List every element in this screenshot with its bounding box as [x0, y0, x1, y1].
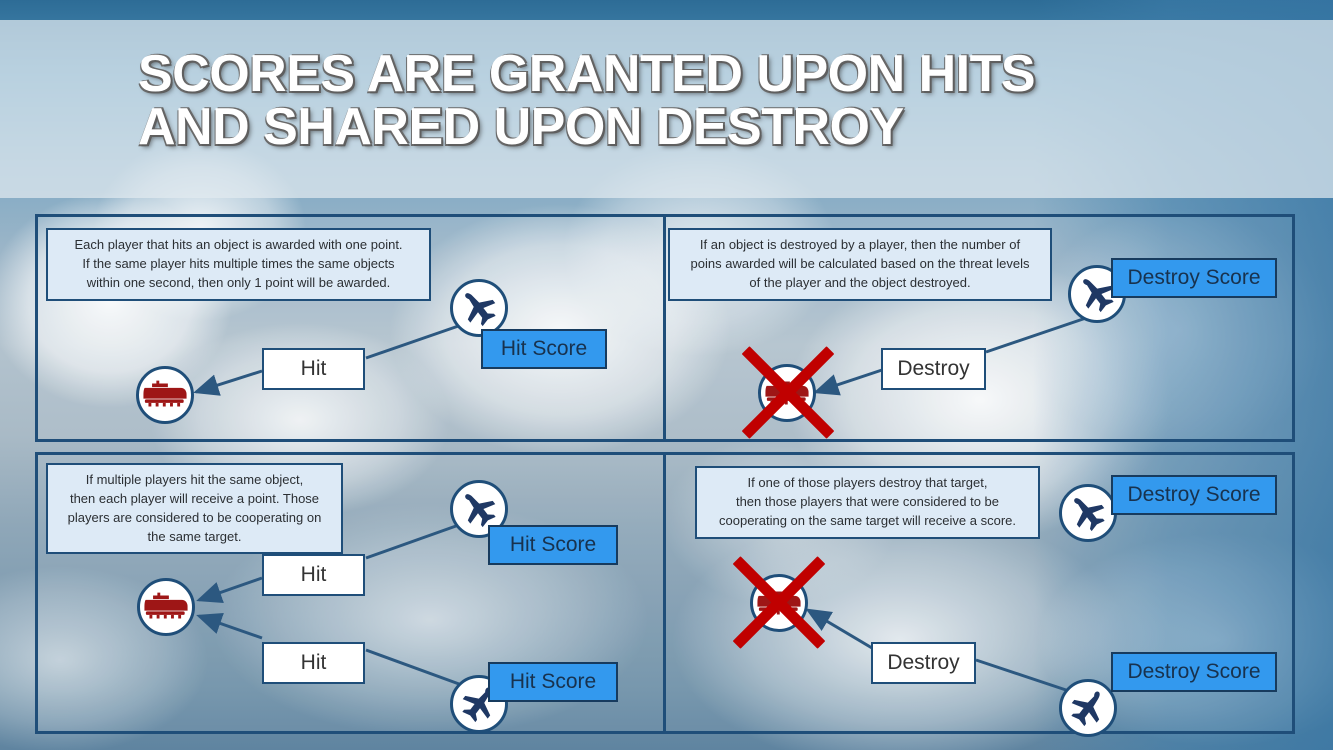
slide-canvas: SCORES ARE GRANTED UPON HITS AND SHARED …	[0, 0, 1333, 750]
action-label-hit-p3-upper[interactable]: Hit	[262, 554, 365, 596]
action-label-destroy-p4[interactable]: Destroy	[871, 642, 976, 684]
score-badge-hit-p1[interactable]: Hit Score	[481, 329, 607, 369]
page-title: SCORES ARE GRANTED UPON HITS AND SHARED …	[138, 48, 1188, 154]
note-hit-single: Each player that hits an object is award…	[46, 228, 431, 301]
action-label-hit-p3-lower[interactable]: Hit	[262, 642, 365, 684]
score-badge-destroy-p4-lower[interactable]: Destroy Score	[1111, 652, 1277, 692]
fighter-jet-icon	[457, 286, 501, 330]
tank-target-icon-p4[interactable]	[750, 574, 808, 632]
tank-target-icon	[756, 587, 802, 619]
fighter-jet-icon-p4-upper[interactable]	[1059, 484, 1117, 542]
note-destroy-single: If an object is destroyed by a player, t…	[668, 228, 1052, 301]
action-label-hit-p1[interactable]: Hit	[262, 348, 365, 390]
tank-target-icon-p3[interactable]	[137, 578, 195, 636]
fighter-jet-icon	[1066, 686, 1110, 730]
tank-target-icon	[142, 379, 188, 411]
panel-row-bottom-divider	[663, 455, 666, 731]
tank-target-icon-p2[interactable]	[758, 364, 816, 422]
score-badge-destroy-p2[interactable]: Destroy Score	[1111, 258, 1277, 298]
fighter-jet-icon	[1066, 491, 1110, 535]
panel-row-top-divider	[663, 217, 666, 439]
note-destroy-cooperative: If one of those players destroy that tar…	[695, 466, 1040, 539]
tank-target-icon-p1[interactable]	[136, 366, 194, 424]
tank-target-icon	[764, 377, 810, 409]
tank-target-icon	[143, 591, 189, 623]
fighter-jet-icon-p4-lower[interactable]	[1059, 679, 1117, 737]
score-badge-destroy-p4-upper[interactable]: Destroy Score	[1111, 475, 1277, 515]
score-badge-hit-p3-upper[interactable]: Hit Score	[488, 525, 618, 565]
note-hit-cooperative: If multiple players hit the same object,…	[46, 463, 343, 554]
score-badge-hit-p3-lower[interactable]: Hit Score	[488, 662, 618, 702]
action-label-destroy-p2[interactable]: Destroy	[881, 348, 986, 390]
